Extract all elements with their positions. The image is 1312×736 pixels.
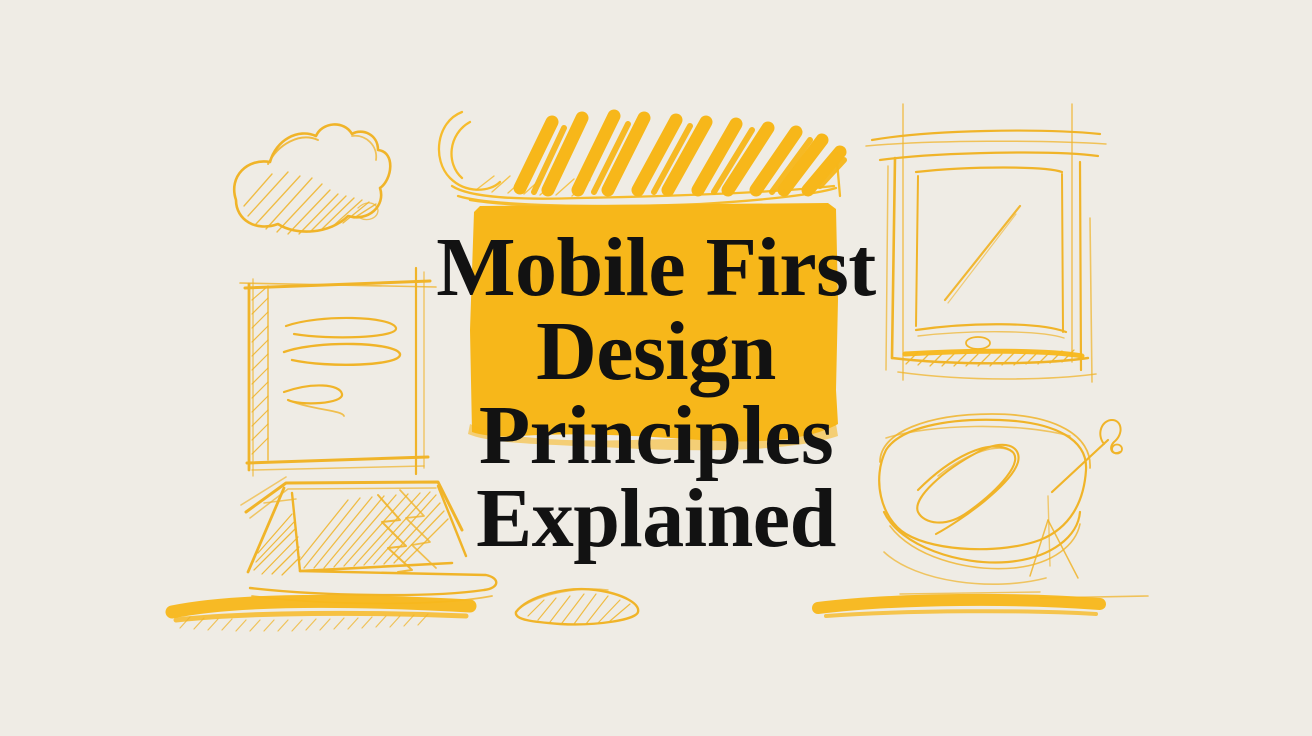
page-title: Mobile First Design Principles Explained — [398, 228, 914, 578]
cloud-sketch — [234, 124, 390, 234]
mouse-sketch — [516, 589, 638, 624]
title-line-3: Principles — [479, 396, 833, 476]
title-line-4: Explained — [476, 479, 836, 559]
scribble-marker-strokes — [439, 112, 844, 208]
poster-canvas: Mobile First Design Principles Explained — [0, 0, 1312, 736]
title-line-2: Design — [536, 312, 776, 392]
title-line-1: Mobile First — [436, 228, 876, 308]
